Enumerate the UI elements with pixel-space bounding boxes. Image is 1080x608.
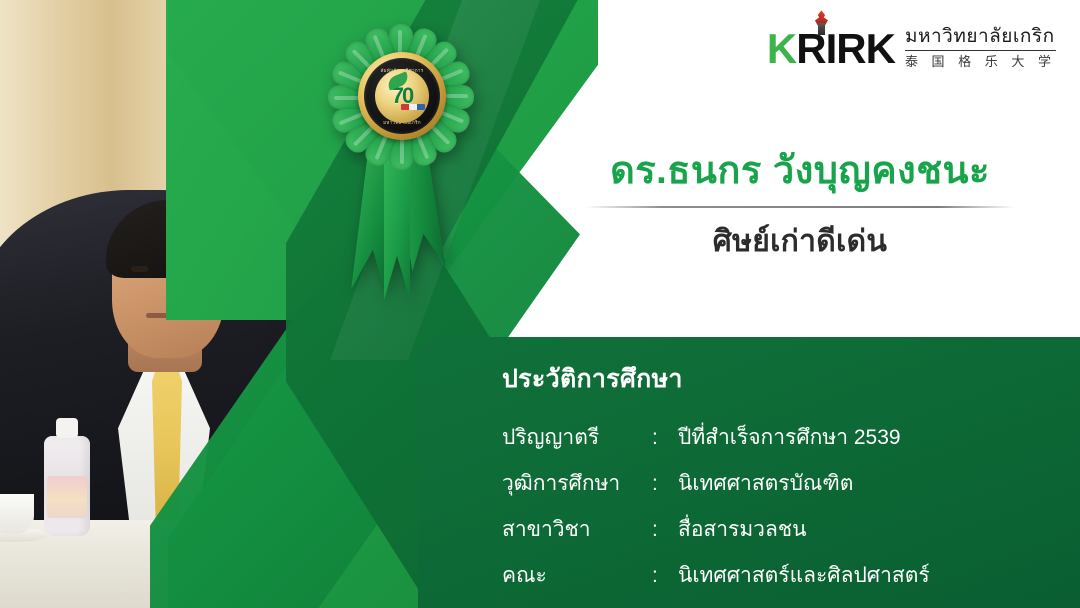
education-row: ปริญญาตรี:ปีที่สำเร็จการศึกษา 2539	[502, 421, 1060, 454]
name-divider	[585, 206, 1015, 208]
education-row-value: นิเทศศาสตร์และศิลปศาสตร์	[678, 559, 930, 592]
education-row-value: ปีที่สำเร็จการศึกษา 2539	[678, 421, 901, 454]
wordmark-rest: RIRK	[796, 25, 895, 72]
education-rows: ปริญญาตรี:ปีที่สำเร็จการศึกษา 2539วุฒิกา…	[502, 421, 1060, 605]
education-row-value: นิเทศศาสตรบัณฑิต	[678, 467, 853, 500]
logo-thai-name: มหาวิทยาลัยเกริก	[905, 26, 1056, 51]
logo-thai-block: มหาวิทยาลัยเกริก 泰 国 格 乐 大 学	[905, 26, 1056, 73]
name-block: ดร.ธนกร วังบุญคงชนะ ศิษย์เก่าดีเด่น	[560, 150, 1040, 265]
education-row-value: สื่อสารมวลชน	[678, 513, 806, 546]
education-row: สาขาวิชา:สื่อสารมวลชน	[502, 513, 1060, 546]
medal-disc: สัมพันธ์ภาพวิชาการ มหาวิทยาลัยเกริก 70	[358, 52, 446, 140]
person-role: ศิษย์เก่าดีเด่น	[560, 218, 1040, 265]
education-row-colon: :	[652, 518, 678, 542]
medal-inner-emblem: 70	[375, 69, 429, 123]
panel-title: ประวัติการศึกษา	[502, 359, 683, 399]
education-panel: ประวัติการศึกษา ปริญญาตรี:ปีที่สำเร็จการ…	[418, 337, 1080, 608]
education-row-label: วุฒิการศึกษา	[502, 467, 652, 500]
logo-chinese-name: 泰 国 格 乐 大 学	[905, 52, 1056, 71]
education-row-colon: :	[652, 564, 678, 588]
rosette-award-ribbon-icon: สัมพันธ์ภาพวิชาการ มหาวิทยาลัยเกริก 70	[326, 22, 476, 292]
medal-flag-bar	[401, 104, 425, 110]
krirk-university-logo: KRIRK มหาวิทยาลัยเกริก 泰 国 格 乐 大 学	[767, 26, 1056, 73]
torch-stem	[818, 23, 825, 35]
education-row-colon: :	[652, 472, 678, 496]
education-row: คณะ:นิเทศศาสตร์และศิลปศาสตร์	[502, 559, 1060, 592]
torch-flame-icon	[813, 10, 830, 34]
education-row-label: สาขาวิชา	[502, 513, 652, 546]
education-row-label: คณะ	[502, 559, 652, 592]
slide-canvas: สัมพันธ์ภาพวิชาการ มหาวิทยาลัยเกริก 70 K…	[0, 0, 1080, 608]
person-name: ดร.ธนกร วังบุญคงชนะ	[560, 150, 1040, 194]
education-row: วุฒิการศึกษา:นิเทศศาสตรบัณฑิต	[502, 467, 1060, 500]
wordmark-letter-k: K	[767, 25, 796, 72]
krirk-wordmark: KRIRK	[767, 28, 895, 70]
education-row-colon: :	[652, 426, 678, 450]
education-row-label: ปริญญาตรี	[502, 421, 652, 454]
